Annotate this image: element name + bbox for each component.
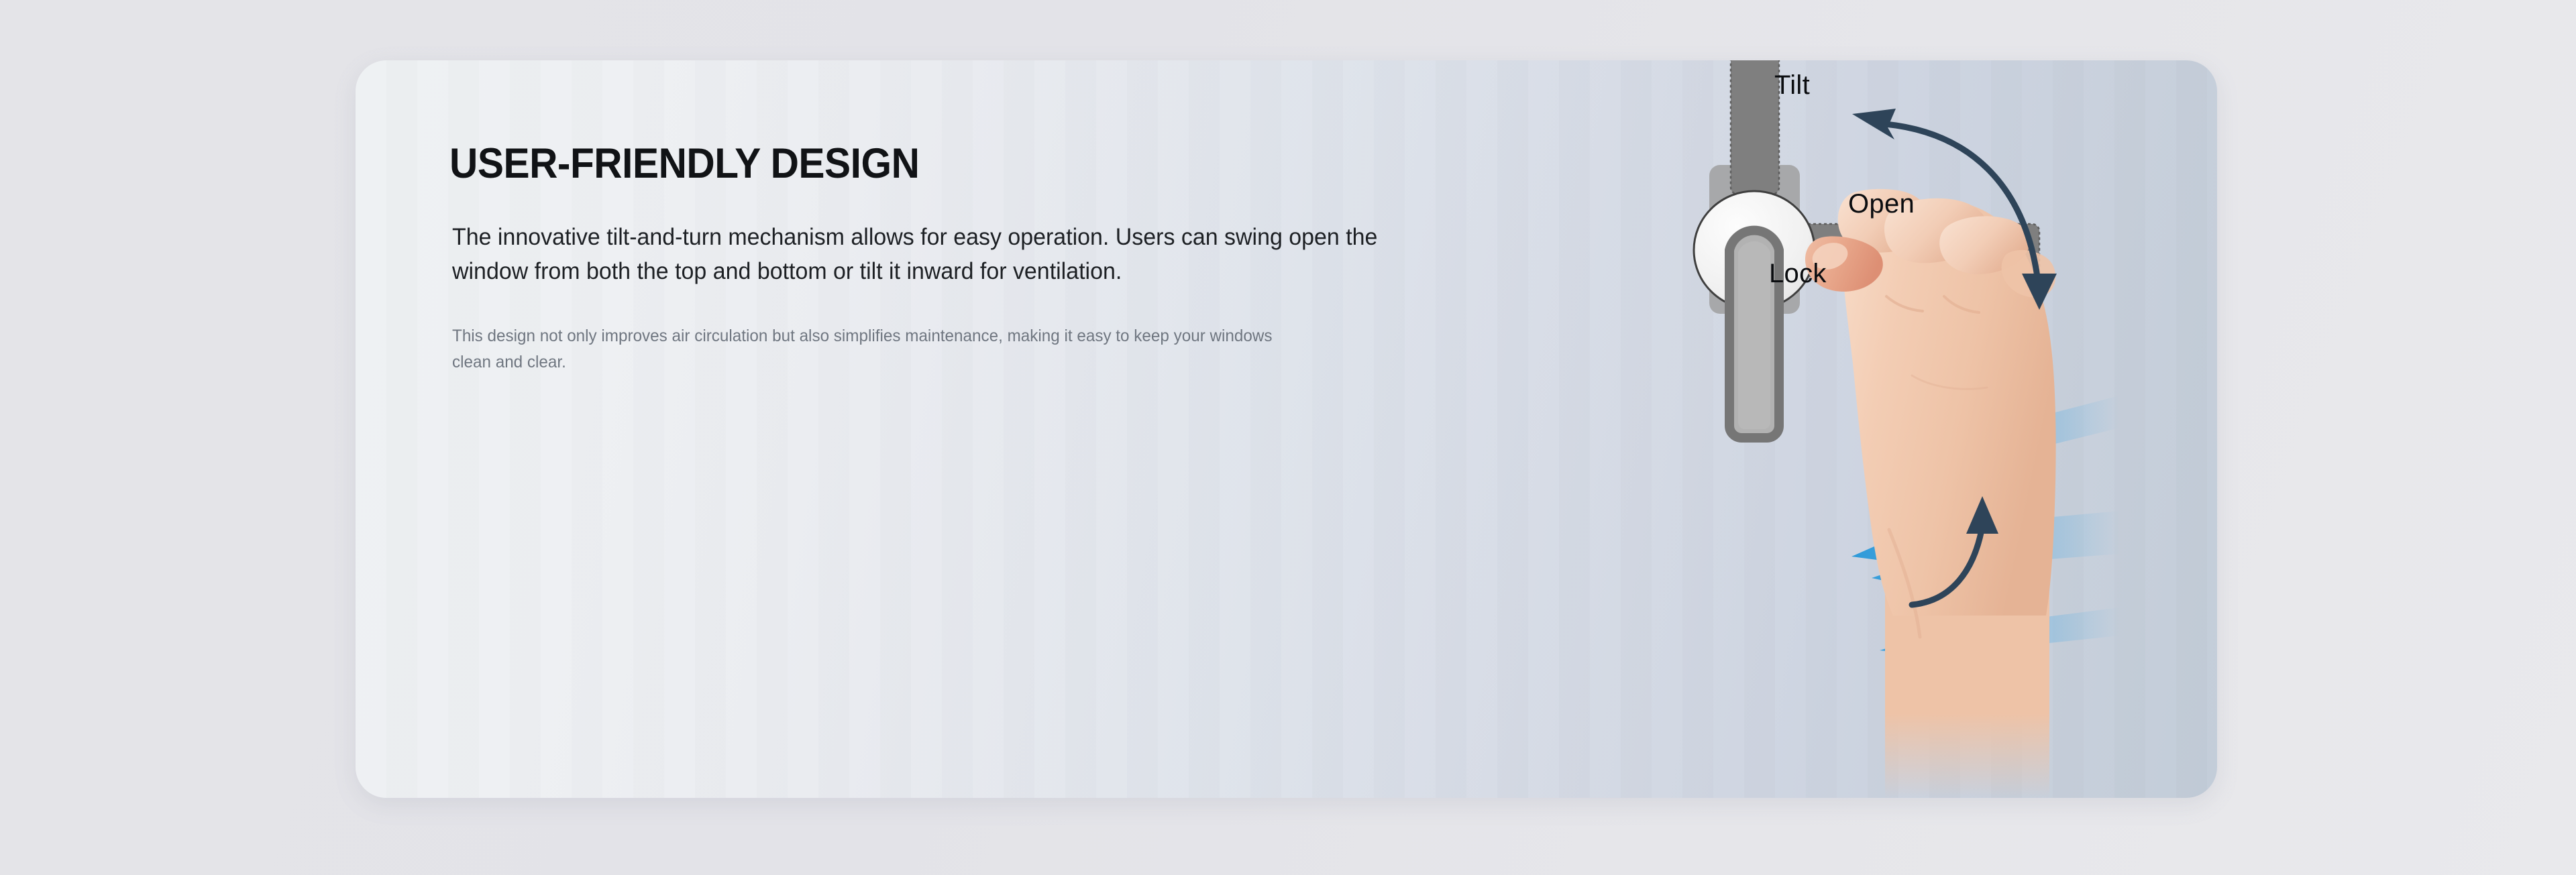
handle-arm-tilt	[1731, 60, 1779, 194]
label-open: Open	[1848, 189, 1915, 219]
body-paragraph: The innovative tilt-and-turn mechanism a…	[452, 220, 1402, 289]
feature-card: USER-FRIENDLY DESIGN The innovative tilt…	[356, 60, 2217, 798]
label-tilt: Tilt	[1774, 70, 1810, 101]
hand-gripping-handle-icon	[1805, 189, 2056, 798]
footnote-paragraph: This design not only improves air circul…	[452, 323, 1298, 375]
text-column: USER-FRIENDLY DESIGN The innovative tilt…	[449, 60, 1456, 798]
handle-illustration: Tilt Open Lock	[1442, 60, 2217, 798]
handle-arm-lock-inner	[1738, 241, 1770, 429]
label-lock: Lock	[1769, 259, 1827, 289]
illustration-svg	[1442, 60, 2217, 798]
page-title: USER-FRIENDLY DESIGN	[449, 139, 919, 188]
